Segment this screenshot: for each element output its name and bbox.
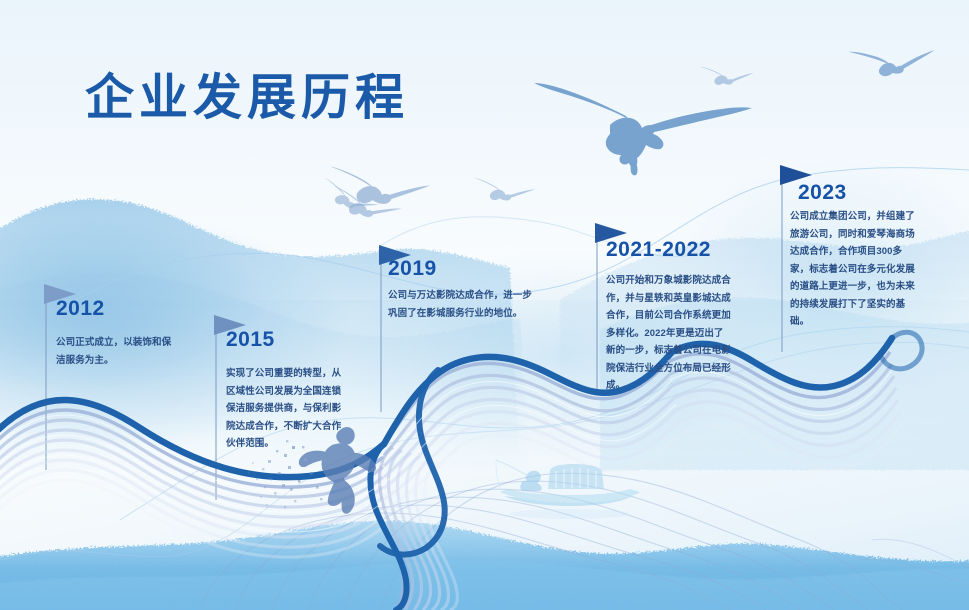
entry-text-2019: 公司与万达影院达成合作，进一步巩固了在影城服务行业的地位。	[388, 287, 540, 322]
entry-year-2019: 2019	[388, 257, 437, 281]
entry-text-2015: 实现了公司重要的转型，从区域性公司发展为全国连锁保洁服务提供商，与保利影院达成合…	[226, 365, 348, 453]
page-title: 企业发展历程	[85, 58, 409, 129]
entry-year-2015: 2015	[226, 328, 275, 352]
entry-year-2012: 2012	[56, 297, 105, 321]
entry-text-2023: 公司成立集团公司，并组建了旅游公司，同时和爱琴海商场达成合作，合作项目300多家…	[790, 208, 918, 331]
entry-text-2021-2022: 公司开始和万象城影院达成合作，并与星轶和英皇影城达成合作，目前公司合作系统更加多…	[606, 272, 732, 395]
entry-year-2021-2022: 2021-2022	[606, 238, 711, 262]
entry-year-2023: 2023	[798, 181, 847, 205]
timeline-poster: 企业发展历程 2012 公司正式成立，以装饰和保洁服务为主。 2015 实现了公…	[0, 0, 969, 610]
entry-text-2012: 公司正式成立，以装饰和保洁服务为主。	[56, 334, 176, 369]
